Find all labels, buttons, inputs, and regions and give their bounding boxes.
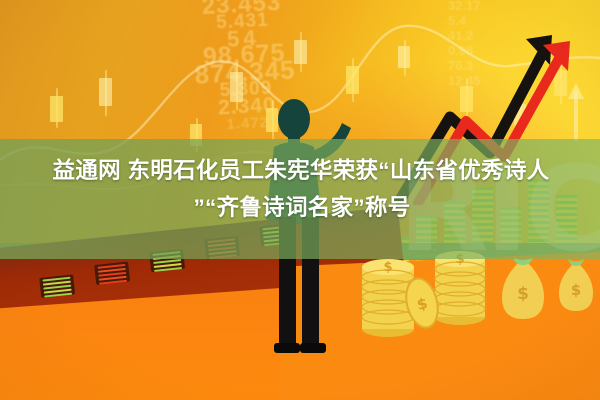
banner-image: 23.453 5.431 54 98.675 874.345 5.309 2.3… [0, 0, 600, 400]
page-title: 益通网 东明石化员工朱宪华荣获“山东省优秀诗人 ”“齐鲁诗词名家”称号 [0, 152, 600, 226]
svg-text:$: $ [571, 281, 581, 299]
coin-stack-right: $ [435, 251, 485, 325]
headline-line-2: ”“齐鲁诗词名家”称号 [0, 189, 600, 226]
svg-text:$: $ [517, 284, 529, 304]
money-bag-1: $ [502, 257, 544, 319]
money-bag-2: $ [559, 259, 593, 311]
money-illustration-group: $ $ $ $ $ [350, 245, 600, 355]
svg-text:$: $ [383, 260, 392, 275]
headline-line-1: 益通网 东明石化员工朱宪华荣获“山东省优秀诗人 [0, 152, 600, 189]
